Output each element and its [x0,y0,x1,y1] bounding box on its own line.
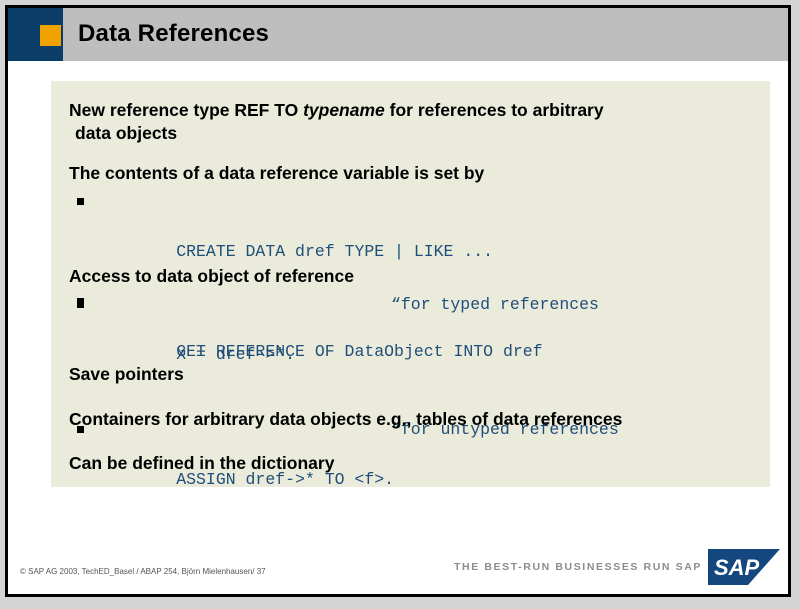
section-heading-6: Can be defined in the dictionary [51,452,788,475]
bullet-square-icon [77,301,84,308]
sap-logo-text: SAP [714,555,760,580]
code-text: CREATE DATA dref TYPE | LIKE ... [176,242,493,261]
copyright-notice: © SAP AG 2003, TechED_Basel / ABAP 254, … [20,567,266,576]
slide-header: Data References [8,8,788,61]
slide: Data References New reference type REF T… [5,5,791,597]
section-heading-4: Save pointers [51,363,788,386]
page-title: Data References [78,20,269,48]
lead-text-b: for references to arbitrary [385,100,604,120]
header-navy-block [8,8,63,61]
section-heading-5: Containers for arbitrary data objects e.… [51,408,788,431]
lead-paragraph: New reference type REF TO typename for r… [51,99,788,145]
sap-logo: SAP [708,549,780,585]
header-orange-square-icon [40,25,61,46]
content-panel: New reference type REF TO typename for r… [51,81,770,487]
lead-text-line2: data objects [69,122,788,145]
code-item: ASSIGN dref->* TO <f>. “for untyped refe… [51,417,770,542]
sap-tagline: THE BEST-RUN BUSINESSES RUN SAP [454,561,702,573]
section-heading-2: The contents of a data reference variabl… [51,162,788,185]
lead-text-italic: typename [303,100,385,120]
code-comment: “for typed references [391,292,599,317]
code-text: X = dref->*. [176,345,295,364]
code-item: X = dref->*. “for typed references [51,292,770,417]
lead-text-a: New reference type REF TO [69,100,303,120]
bullet-square-icon [77,198,84,205]
section-heading-3: Access to data object of reference [51,265,788,288]
